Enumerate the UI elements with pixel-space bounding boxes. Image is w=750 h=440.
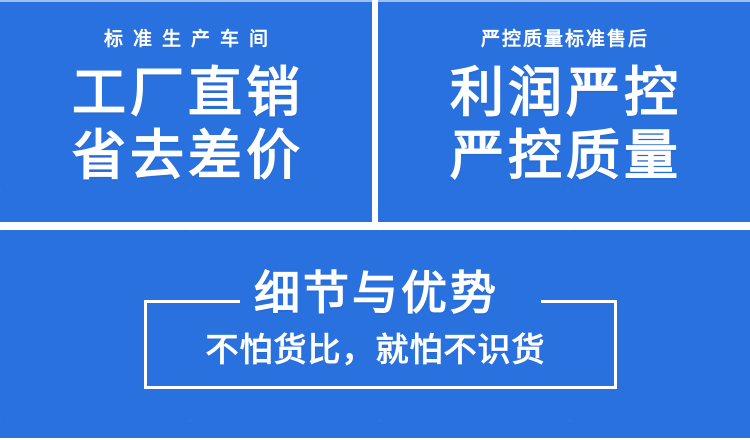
horizontal-divider xyxy=(0,222,750,230)
bottom-panel-subtitle: 不怕货比，就怕不识货 xyxy=(0,333,750,366)
panel-left-kicker: 标准生产车间 xyxy=(94,30,278,49)
bottom-panel-title: 细节与优势 xyxy=(0,270,750,316)
panel-details-and-advantages: 细节与优势 不怕货比，就怕不识货 xyxy=(0,230,750,438)
panel-quality-control: 严控质量标准售后 利润严控 严控质量 xyxy=(378,0,750,222)
panel-right-content: 严控质量标准售后 利润严控 严控质量 xyxy=(378,0,750,185)
panel-left-content: 标准生产车间 工厂直销 省去差价 xyxy=(0,0,372,185)
panel-left-headline-line2: 省去差价 xyxy=(68,128,304,185)
panel-right-kicker: 严控质量标准售后 xyxy=(479,30,649,49)
panel-left-headline-line1: 工厂直销 xyxy=(68,65,304,122)
top-panel-row: 标准生产车间 工厂直销 省去差价 严控质量标准售后 利润严控 严控质量 xyxy=(0,0,750,222)
panel-factory-direct-sales: 标准生产车间 工厂直销 省去差价 xyxy=(0,0,372,222)
promo-banner: 标准生产车间 工厂直销 省去差价 严控质量标准售后 利润严控 严控质量 细节与优… xyxy=(0,0,750,440)
panel-right-headline-line1: 利润严控 xyxy=(446,65,682,122)
panel-right-headline-line2: 严控质量 xyxy=(446,128,682,185)
